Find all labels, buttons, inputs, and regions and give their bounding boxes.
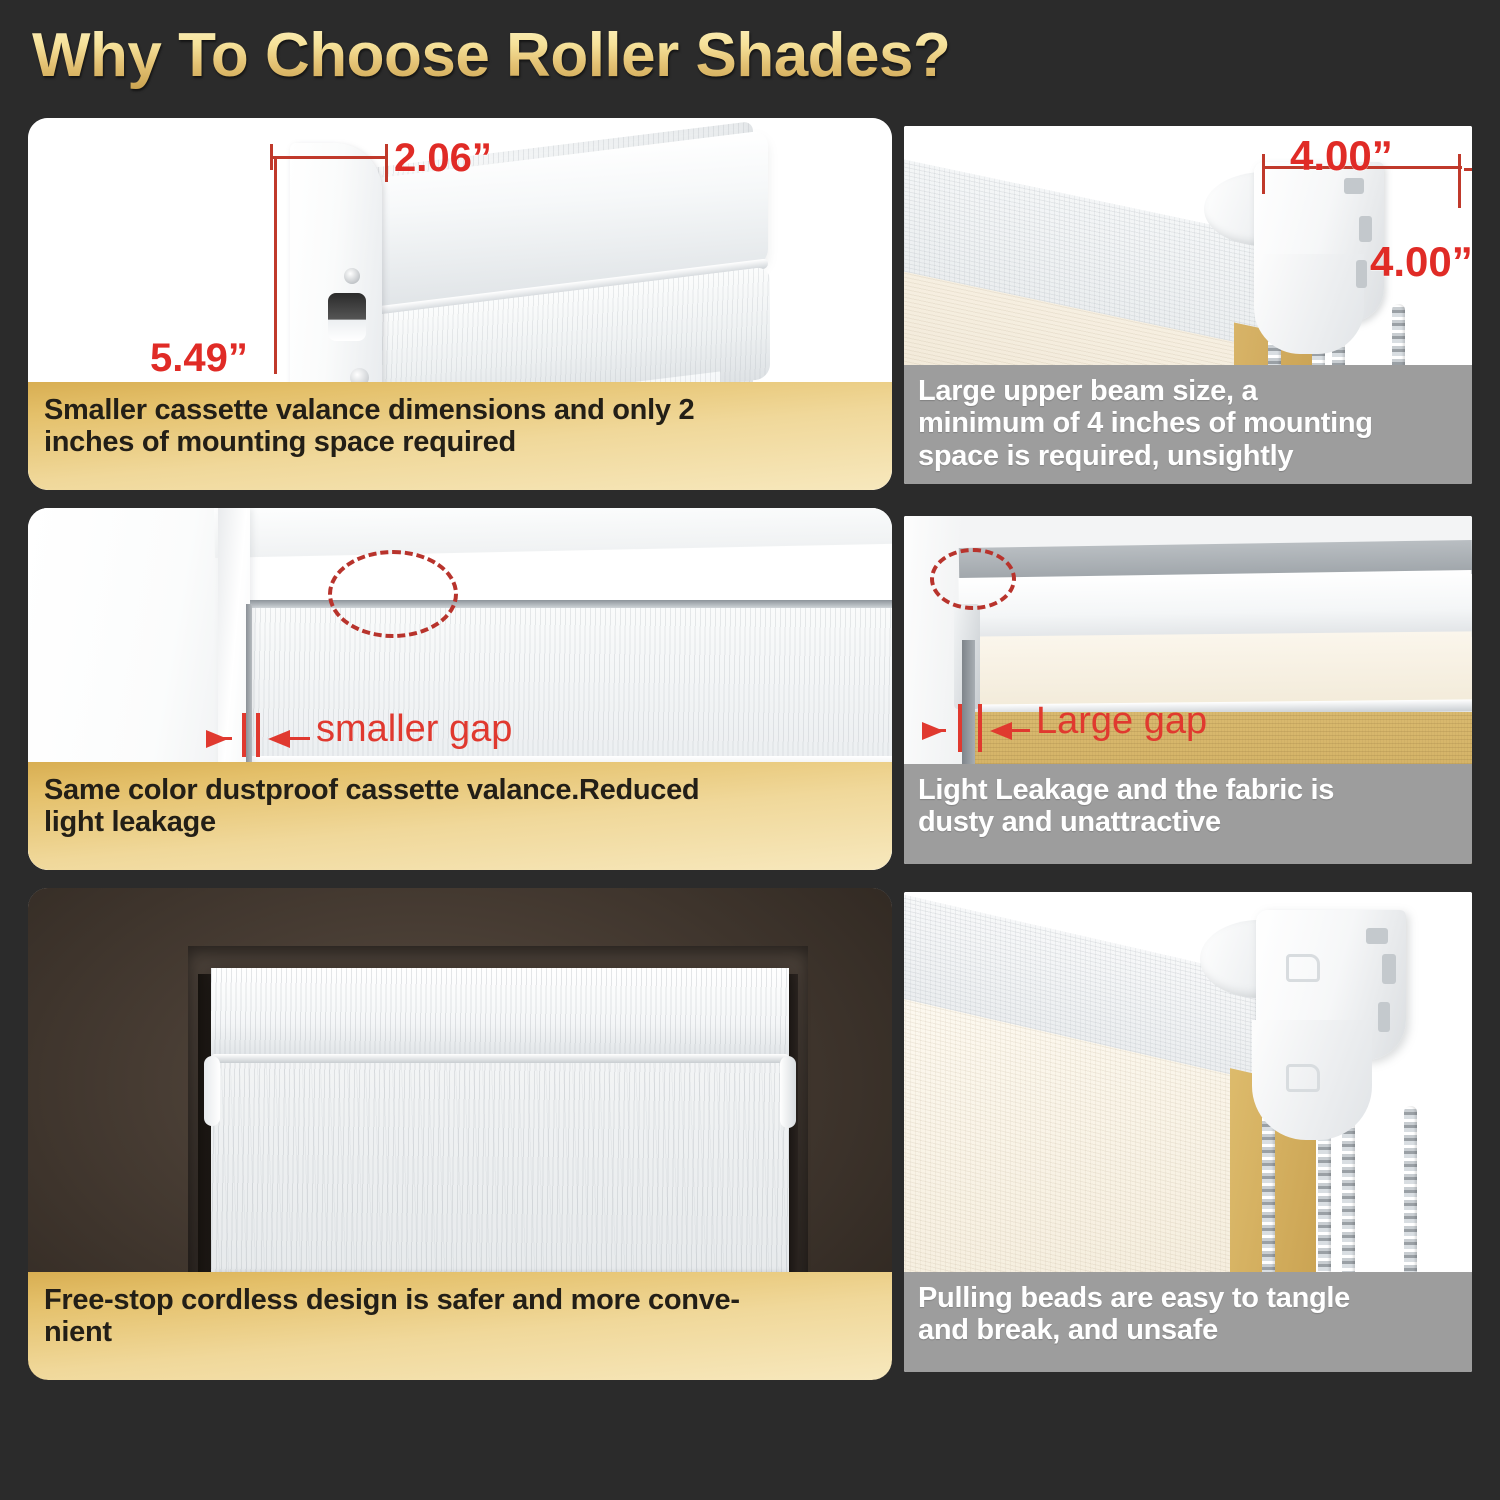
caption-line: Large upper beam size, a [918,375,1460,407]
gap-arrow-right [268,730,290,748]
panel-large-upper-beam: 4.00” 4.00” Large upper beam size, a min… [904,126,1472,484]
caption-dustproof-cassette: Same color dustproof cassette valance.Re… [28,762,892,870]
caption-large-upper-beam: Large upper beam size, a minimum of 4 in… [904,365,1472,484]
caption-line: and break, and unsafe [918,1314,1460,1346]
caption-line: light leakage [44,806,874,838]
caption-smaller-cassette: Smaller cassette valance dimensions and … [28,382,892,490]
gap-label-smaller: smaller gap [316,708,512,751]
caption-line: Free-stop cordless design is safer and m… [44,1284,874,1316]
caption-line: minimum of 4 inches of mounting [918,407,1460,439]
panel-free-stop-cordless: Free-stop cordless design is safer and m… [28,888,892,1380]
dimension-label-height: 5.49” [150,336,248,381]
highlight-ellipse-bracket [930,548,1016,610]
dimension-label-width: 2.06” [394,136,492,181]
page-title: Why To Choose Roller Shades? [32,20,950,91]
highlight-ellipse-seam [328,550,458,638]
caption-light-leakage: Light Leakage and the fabric is dusty an… [904,764,1472,864]
caption-pulling-beads: Pulling beads are easy to tangle and bre… [904,1272,1472,1372]
gap-label-large: Large gap [1036,700,1207,743]
dimension-label-beam-depth: 4.00” [1370,238,1472,286]
caption-line: Light Leakage and the fabric is [918,774,1460,806]
panel-light-leakage: Large gap Light Leakage and the fabric i… [904,516,1472,864]
gap-arrow-right [990,722,1012,740]
caption-free-stop-cordless: Free-stop cordless design is safer and m… [28,1272,892,1380]
panel-smaller-cassette: 2.06” 5.49” Smaller cassette valance dim… [28,118,892,490]
caption-line: inches of mounting space required [44,426,874,458]
caption-line: Pulling beads are easy to tangle [918,1282,1460,1314]
infographic-page: Why To Choose Roller Shades? 2.06” 5.49” [0,0,1500,1500]
caption-line: Smaller cassette valance dimensions and … [44,394,874,426]
panel-pulling-beads: Pulling beads are easy to tangle and bre… [904,892,1472,1372]
panel-dustproof-cassette: smaller gap Same color dustproof cassett… [28,508,892,870]
caption-line: dusty and unattractive [918,806,1460,838]
caption-line: nient [44,1316,874,1348]
caption-line: Same color dustproof cassette valance.Re… [44,774,874,806]
caption-line: space is required, unsightly [918,440,1460,472]
dimension-label-beam-width: 4.00” [1290,132,1393,180]
